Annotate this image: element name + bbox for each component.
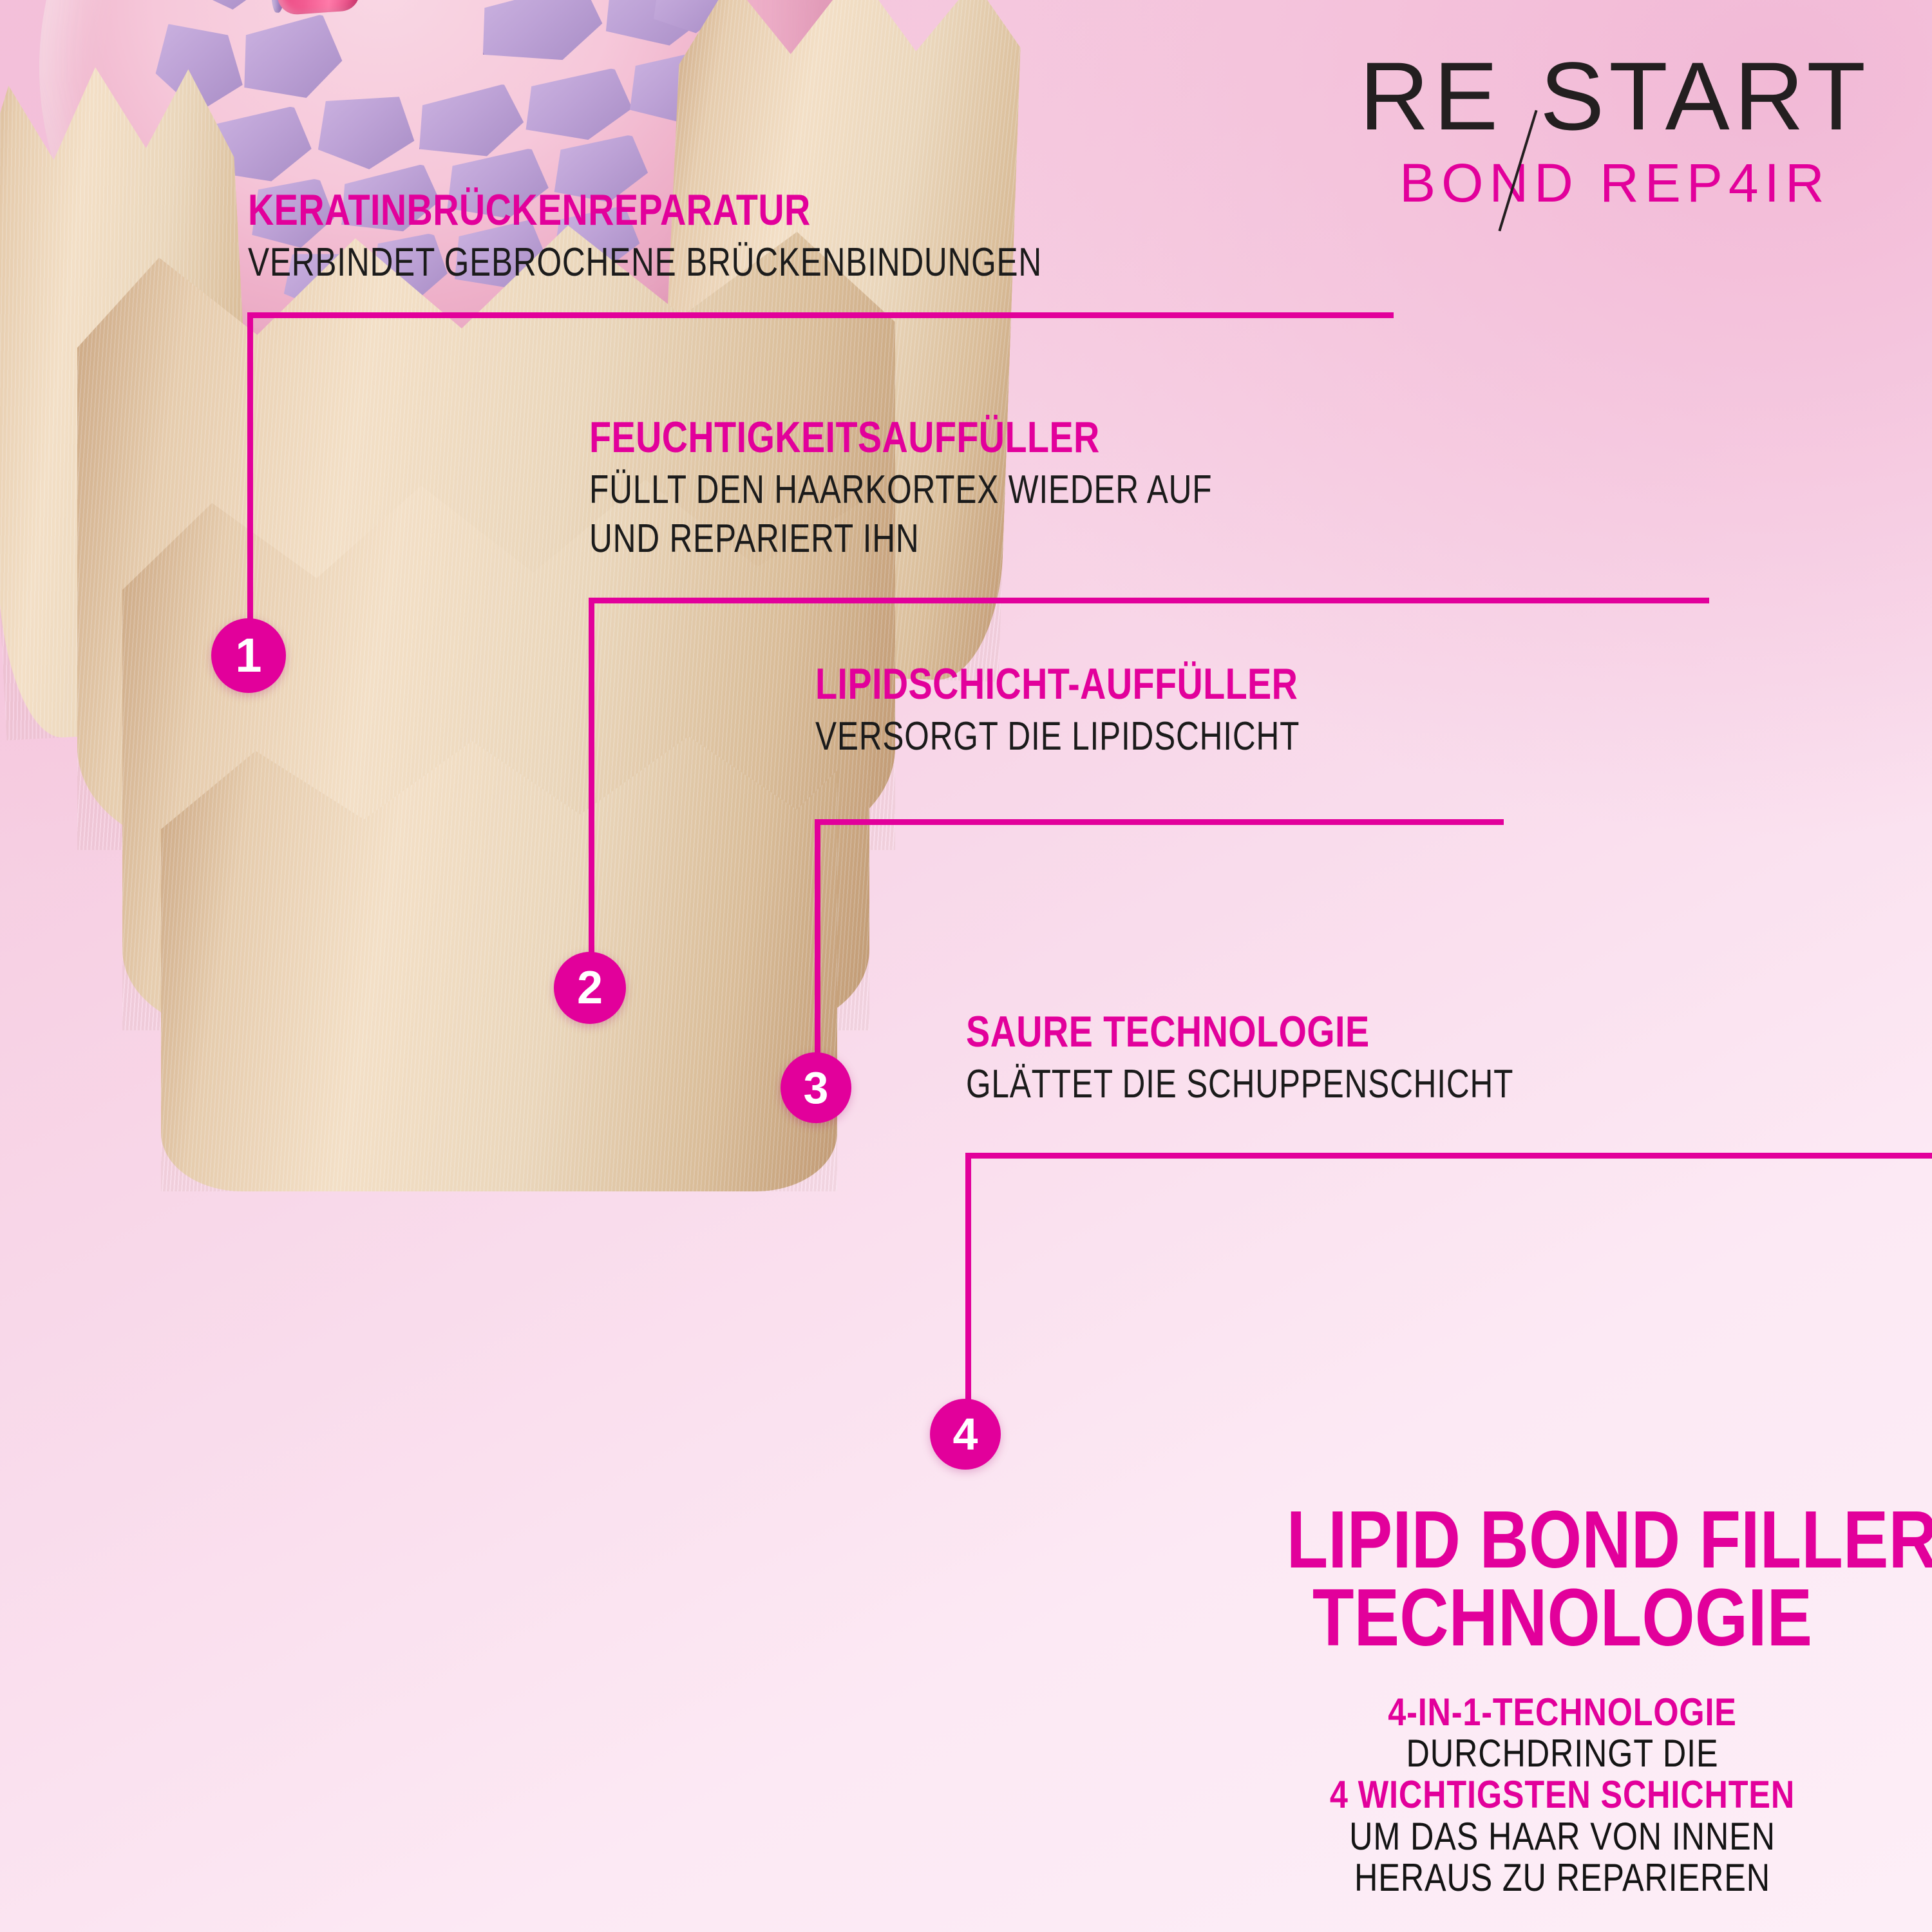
marker-3[interactable]: 3 (781, 1052, 851, 1123)
footer-heading-line-1: LIPID BOND FILLER (1287, 1501, 1839, 1579)
logo-re: RE (1359, 42, 1502, 150)
footer-body-line-2: DURCHDRINGT DIE (1287, 1733, 1839, 1774)
logo-start: START (1540, 42, 1870, 150)
callout-1-title: KERATINBRÜCKENREPARATUR (248, 188, 1062, 232)
logo-restart: RE START (1359, 48, 1870, 144)
callout-4-stem (965, 1153, 971, 1407)
marker-1[interactable]: 1 (211, 618, 286, 693)
callout-1: KERATINBRÜCKENREPARATUR VERBINDET GEBROC… (248, 188, 1240, 286)
callout-1-desc-line-1: VERBINDET GEBROCHENE BRÜCKENBINDUNGEN (248, 240, 1042, 286)
callout-3-desc-line-1: VERSORGT DIE LIPIDSCHICHT (815, 714, 1300, 760)
callout-2-desc-line-2: UND REPARIERT IHN (589, 516, 1212, 562)
marker-4[interactable]: 4 (930, 1399, 1001, 1470)
footer-body-line-3: 4 WICHTIGSTEN SCHICHTEN (1287, 1774, 1839, 1815)
brand-logo: RE START BOND REP4IR (1359, 48, 1870, 210)
callout-4-desc-line-1: GLÄTTET DIE SCHUPPENSCHICHT (966, 1061, 1513, 1108)
footer-body-line-4: UM DAS HAAR VON INNEN (1287, 1816, 1839, 1857)
marker-1-number: 1 (235, 632, 261, 679)
callout-3: LIPIDSCHICHT-AUFFÜLLER VERSORGT DIE LIPI… (815, 662, 1421, 760)
infographic-canvas: RE START BOND REP4IR KERATINBRÜCKENREPAR… (0, 0, 1932, 1932)
callout-3-rule (815, 819, 1504, 825)
logo-bond-repair: BOND REP4IR (1359, 156, 1870, 210)
footer-heading-line-2: TECHNOLOGIE (1287, 1579, 1839, 1657)
cuticle-scale-bottom (161, 702, 837, 1191)
callout-2-desc-line-1: FÜLLT DEN HAARKORTEX WIEDER AUF (589, 467, 1212, 513)
callout-3-stem (815, 819, 820, 1064)
callout-2-rule (589, 598, 1709, 603)
footer-block: LIPID BOND FILLER TECHNOLOGIE 4-IN-1-TEC… (1234, 1501, 1891, 1899)
marker-2-number: 2 (577, 965, 603, 1011)
marker-3-number: 3 (804, 1065, 829, 1110)
callout-4-title: SAURE TECHNOLOGIE (966, 1010, 1527, 1054)
marker-2[interactable]: 2 (554, 952, 626, 1024)
callout-4-rule (965, 1153, 1932, 1159)
marker-4-number: 4 (953, 1412, 978, 1457)
callout-3-title: LIPIDSCHICHT-AUFFÜLLER (815, 662, 1312, 706)
callout-1-rule (247, 312, 1394, 318)
callout-4: SAURE TECHNOLOGIE GLÄTTET DIE SCHUPPENSC… (966, 1010, 1651, 1108)
callout-2: FEUCHTIGKEITSAUFFÜLLER FÜLLT DEN HAARKOR… (589, 415, 1368, 562)
callout-2-title: FEUCHTIGKEITSAUFFÜLLER (589, 415, 1228, 459)
footer-body-line-1: 4-IN-1-TECHNOLOGIE (1287, 1692, 1839, 1733)
callout-1-stem (247, 312, 253, 634)
callout-2-stem (589, 598, 594, 971)
footer-body-line-5: HERAUS ZU REPARIEREN (1287, 1857, 1839, 1899)
